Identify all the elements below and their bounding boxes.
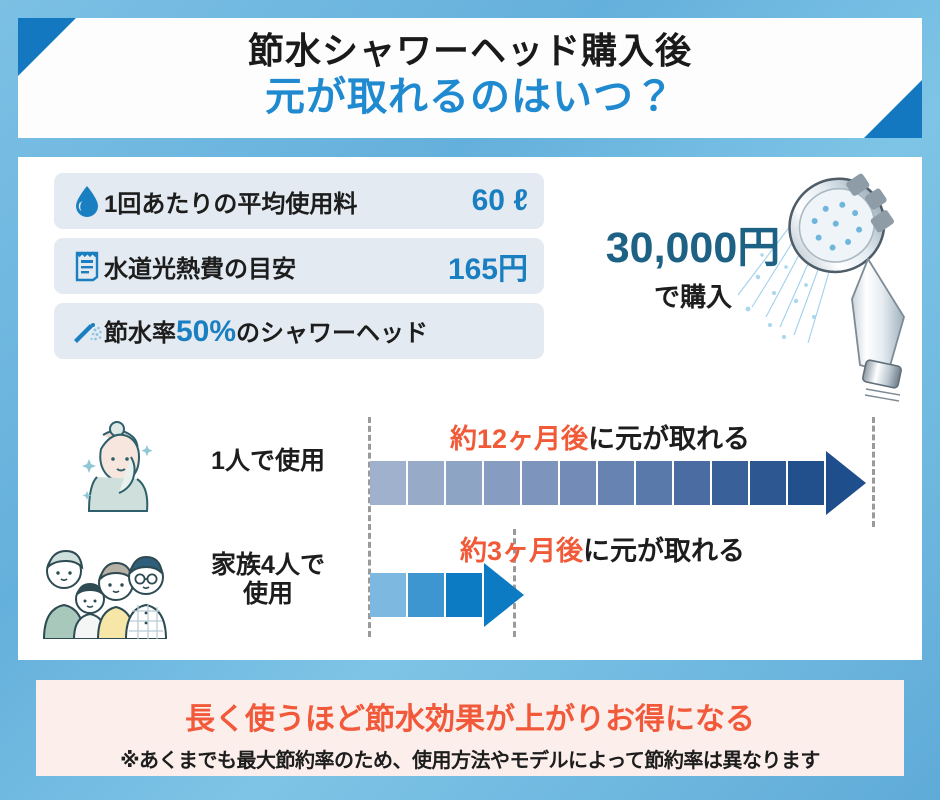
- bar-segment: [674, 461, 712, 505]
- main-panel: 1回あたりの平均使用料 60 ℓ 水道光熱費の目安 165円: [18, 157, 922, 660]
- bar-segment: [788, 461, 826, 505]
- woman-avatar-icon: [73, 419, 163, 515]
- bar-segments: [370, 461, 866, 505]
- saving-rate-prefix: 節水率: [104, 320, 176, 347]
- bar-segment: [484, 461, 522, 505]
- page-title-line-2: 元が取れるのはいつ？: [18, 73, 922, 122]
- bar-segment: [712, 461, 750, 505]
- info-row-average-usage: 1回あたりの平均使用料 60 ℓ: [54, 173, 544, 229]
- saving-rate-suffix: のシャワーヘッド: [236, 320, 428, 347]
- info-row-list: 1回あたりの平均使用料 60 ℓ 水道光熱費の目安 165円: [54, 173, 544, 368]
- callout-highlight: 約3ヶ月後: [460, 536, 583, 566]
- water-drop-icon: [70, 185, 104, 217]
- footer-note: ※あくまでも最大節約率のため、使用方法やモデルによって節約率は異なります: [36, 744, 904, 773]
- payback-chart: 1人で使用 約12ヶ月後に元が取れる: [18, 407, 922, 657]
- price-sub-label: で購入: [578, 277, 808, 314]
- info-row-label: 水道光熱費の目安: [104, 249, 296, 284]
- bar-segment: [522, 461, 560, 505]
- bar-segments: [370, 573, 524, 617]
- chart-series-single-person: 1人で使用 約12ヶ月後に元が取れる: [18, 417, 922, 527]
- shower-head-icon: [70, 316, 104, 346]
- series-label-family: 家族4人で使用: [178, 551, 358, 609]
- bar-single-person: [370, 461, 866, 505]
- chart-series-family: 家族4人で使用 約3ヶ月後に元が取れる: [18, 529, 922, 639]
- bar-segment: [370, 461, 408, 505]
- bar-segment: [408, 461, 446, 505]
- info-row-saving-rate: 節水率50%のシャワーヘッド: [54, 303, 544, 359]
- series-label-family-line2: 使用: [243, 580, 293, 608]
- footer-banner: 長く使うほど節水効果が上がりお得になる ※あくまでも最大節約率のため、使用方法や…: [36, 680, 904, 776]
- bar-segment: [750, 461, 788, 505]
- bar-segment: [408, 573, 446, 617]
- receipt-icon: [70, 250, 104, 282]
- page-title-line-1: 節水シャワーヘッド購入後: [18, 29, 922, 73]
- callout-rest: に元が取れる: [583, 536, 745, 566]
- price-block: 30,000円 で購入: [578, 227, 808, 314]
- bar-segment: [560, 461, 598, 505]
- header-titles: 節水シャワーヘッド購入後 元が取れるのはいつ？: [18, 18, 922, 122]
- saving-rate-value: 50%: [176, 315, 236, 348]
- footer-headline: 長く使うほど節水効果が上がりお得になる: [36, 680, 904, 738]
- bar-arrow-head-icon: [484, 563, 524, 627]
- bar-segment: [636, 461, 674, 505]
- info-row-utility-cost: 水道光熱費の目安 165円: [54, 238, 544, 294]
- series-label-family-line1: 家族4人で: [211, 551, 325, 579]
- price-amount: 30,000円: [578, 227, 808, 270]
- bar-arrow-head-icon: [826, 451, 866, 515]
- info-row-label: 節水率50%のシャワーヘッド: [104, 313, 428, 349]
- callout-highlight: 約12ヶ月後: [450, 424, 588, 454]
- series-label-single-person: 1人で使用: [178, 447, 358, 476]
- header-banner: 節水シャワーヘッド購入後 元が取れるのはいつ？: [18, 18, 922, 138]
- family-avatar-icon: [40, 547, 172, 639]
- callout-rest: に元が取れる: [588, 424, 750, 454]
- bar-segment: [598, 461, 636, 505]
- infographic-root: 節水シャワーヘッド購入後 元が取れるのはいつ？ 1回あたりの平均使用料 60 ℓ: [0, 0, 940, 800]
- bar-segment: [446, 461, 484, 505]
- bar-family: [370, 573, 524, 617]
- bar-segment: [446, 573, 484, 617]
- info-row-value: 60 ℓ: [472, 184, 528, 218]
- info-row-label: 1回あたりの平均使用料: [104, 184, 357, 219]
- callout-single-person: 約12ヶ月後に元が取れる: [450, 417, 750, 456]
- bar-segment: [370, 573, 408, 617]
- info-row-value: 165円: [448, 244, 528, 288]
